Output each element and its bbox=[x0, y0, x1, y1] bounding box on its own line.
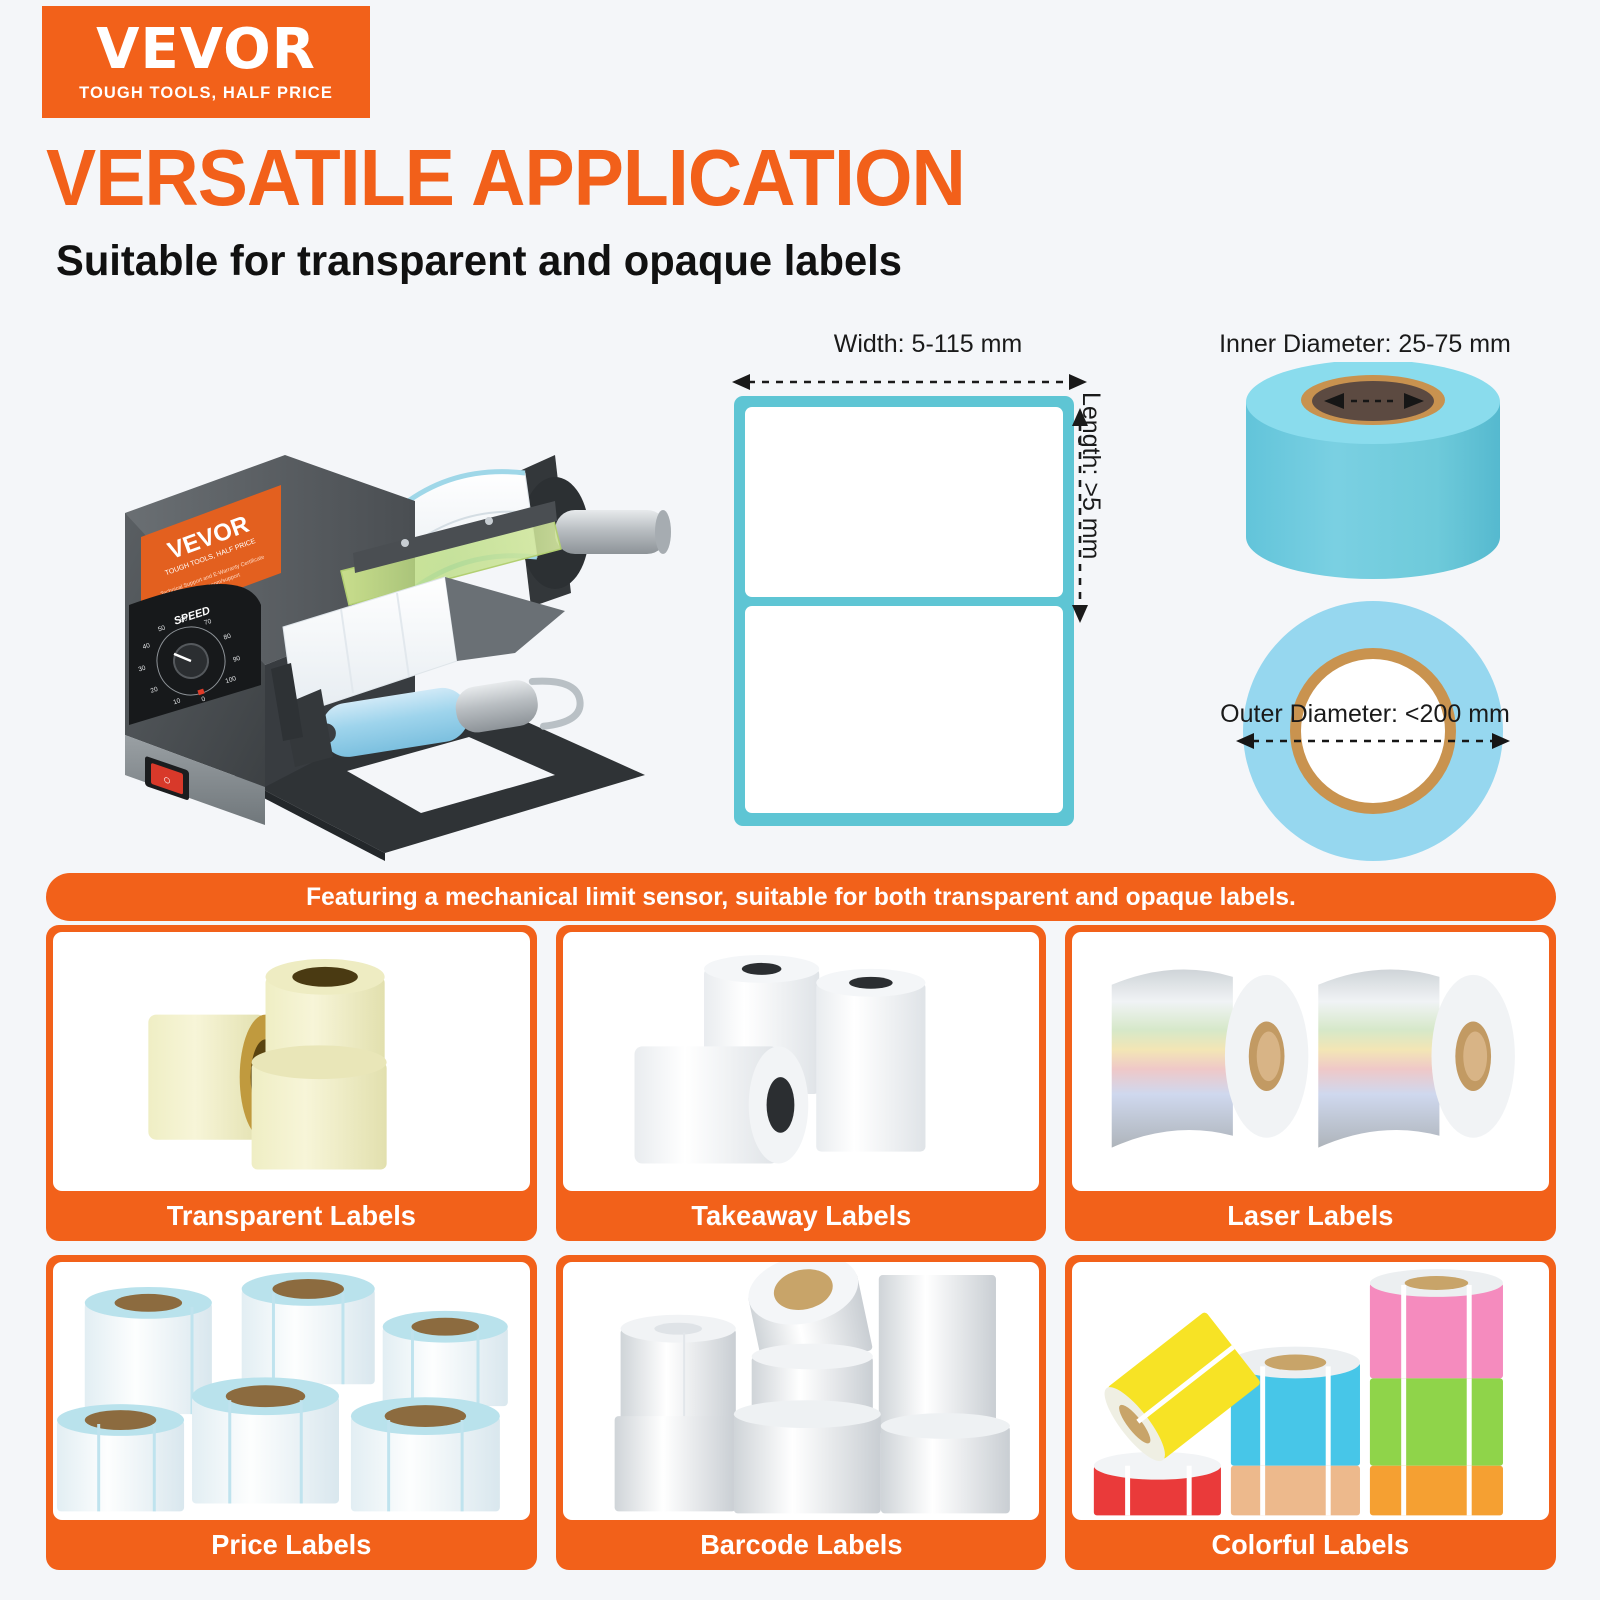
label-panel-bottom bbox=[745, 606, 1063, 813]
feature-banner-text: Featuring a mechanical limit sensor, sui… bbox=[306, 883, 1296, 912]
laser-labels-photo bbox=[1072, 932, 1549, 1191]
transparent-labels-photo bbox=[53, 932, 530, 1191]
barcode-labels-photo bbox=[563, 1262, 1040, 1521]
label-sheet-graphic bbox=[734, 396, 1074, 826]
vevor-logo: VEVOR TOUGH TOOLS, HALF PRICE bbox=[42, 6, 370, 118]
card-price-labels[interactable]: Price Labels bbox=[46, 1255, 537, 1571]
label-dispenser-machine-image: VEVOR TOUGH TOOLS, HALF PRICE Technical … bbox=[85, 305, 705, 865]
logo-tagline: TOUGH TOOLS, HALF PRICE bbox=[79, 84, 333, 103]
card-caption: Transparent Labels bbox=[60, 1191, 522, 1241]
label-panel-top bbox=[745, 407, 1063, 597]
card-barcode-labels[interactable]: Barcode Labels bbox=[556, 1255, 1047, 1571]
page-headline: VERSATILE APPLICATION bbox=[46, 138, 965, 218]
card-caption: Colorful Labels bbox=[1079, 1520, 1541, 1570]
card-caption: Laser Labels bbox=[1079, 1191, 1541, 1241]
label-type-grid: Transparent Labels bbox=[46, 925, 1556, 1570]
outer-diameter-arrow bbox=[1236, 733, 1510, 749]
svg-text:○: ○ bbox=[163, 771, 171, 788]
price-labels-photo bbox=[53, 1262, 530, 1521]
card-laser-labels[interactable]: Laser Labels bbox=[1065, 925, 1556, 1241]
card-caption: Takeaway Labels bbox=[570, 1191, 1032, 1241]
colorful-labels-photo bbox=[1072, 1262, 1549, 1521]
roll-dimension-diagrams: Inner Diameter: 25-75 mm Outer Diameter:… bbox=[1150, 330, 1580, 870]
roll-top-view-graphic bbox=[1242, 600, 1504, 862]
card-colorful-labels[interactable]: Colorful Labels bbox=[1065, 1255, 1556, 1571]
label-width-text: Width: 5-115 mm bbox=[778, 330, 1078, 359]
card-caption: Barcode Labels bbox=[570, 1520, 1032, 1570]
roll-3d-graphic bbox=[1228, 362, 1518, 597]
label-length-text: Length: >5 mm bbox=[1076, 392, 1105, 559]
feature-banner: Featuring a mechanical limit sensor, sui… bbox=[46, 873, 1556, 921]
card-takeaway-labels[interactable]: Takeaway Labels bbox=[556, 925, 1047, 1241]
inner-diameter-text: Inner Diameter: 25-75 mm bbox=[1150, 330, 1580, 359]
width-dimension-arrow bbox=[732, 374, 1087, 390]
logo-wordmark: VEVOR bbox=[96, 22, 316, 78]
card-caption: Price Labels bbox=[60, 1520, 522, 1570]
label-dimension-diagram: Width: 5-115 mm Length: >5 mm bbox=[720, 330, 1140, 840]
outer-diameter-text: Outer Diameter: <200 mm bbox=[1142, 700, 1588, 729]
page-subheadline: Suitable for transparent and opaque labe… bbox=[56, 240, 902, 283]
card-transparent-labels[interactable]: Transparent Labels bbox=[46, 925, 537, 1241]
takeaway-labels-photo bbox=[563, 932, 1040, 1191]
